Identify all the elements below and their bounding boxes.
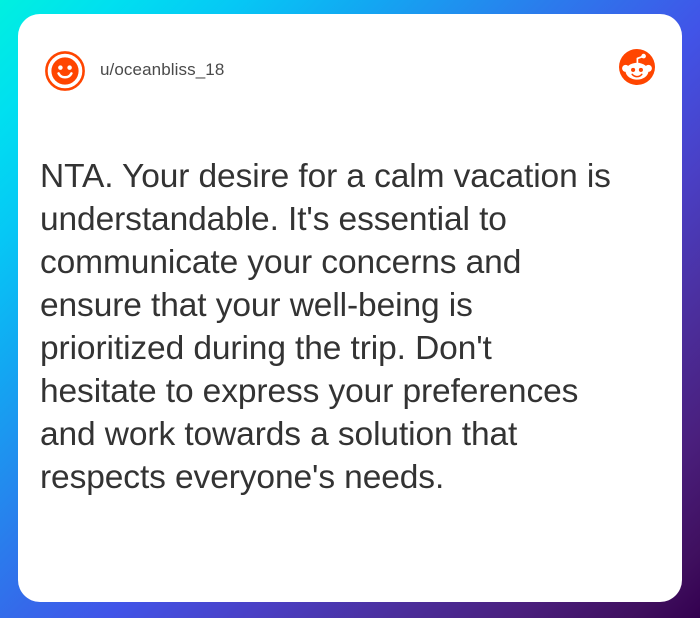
post-text-line: hesitate to express your preferences xyxy=(40,370,660,413)
post-text-line: understandable. It's essential to xyxy=(40,198,660,241)
post-header: u/oceanbliss_18 xyxy=(18,14,682,104)
gradient-background: u/oceanbliss_18 xyxy=(0,0,700,618)
post-text-line: ensure that your well-being is xyxy=(40,284,660,327)
smiley-face-icon xyxy=(44,50,86,92)
reddit-post-card: u/oceanbliss_18 xyxy=(18,14,682,602)
post-text-line: respects everyone's needs. xyxy=(40,456,660,499)
post-body-text: NTA. Your desire for a calm vacation is … xyxy=(40,155,660,499)
username-label: u/oceanbliss_18 xyxy=(100,60,224,80)
post-text-line: and work towards a solution that xyxy=(40,413,660,456)
post-text-line: communicate your concerns and xyxy=(40,241,660,284)
post-text-line: prioritized during the trip. Don't xyxy=(40,327,660,370)
reddit-snoo-icon xyxy=(618,48,656,86)
post-text-line: NTA. Your desire for a calm vacation is xyxy=(40,155,660,198)
